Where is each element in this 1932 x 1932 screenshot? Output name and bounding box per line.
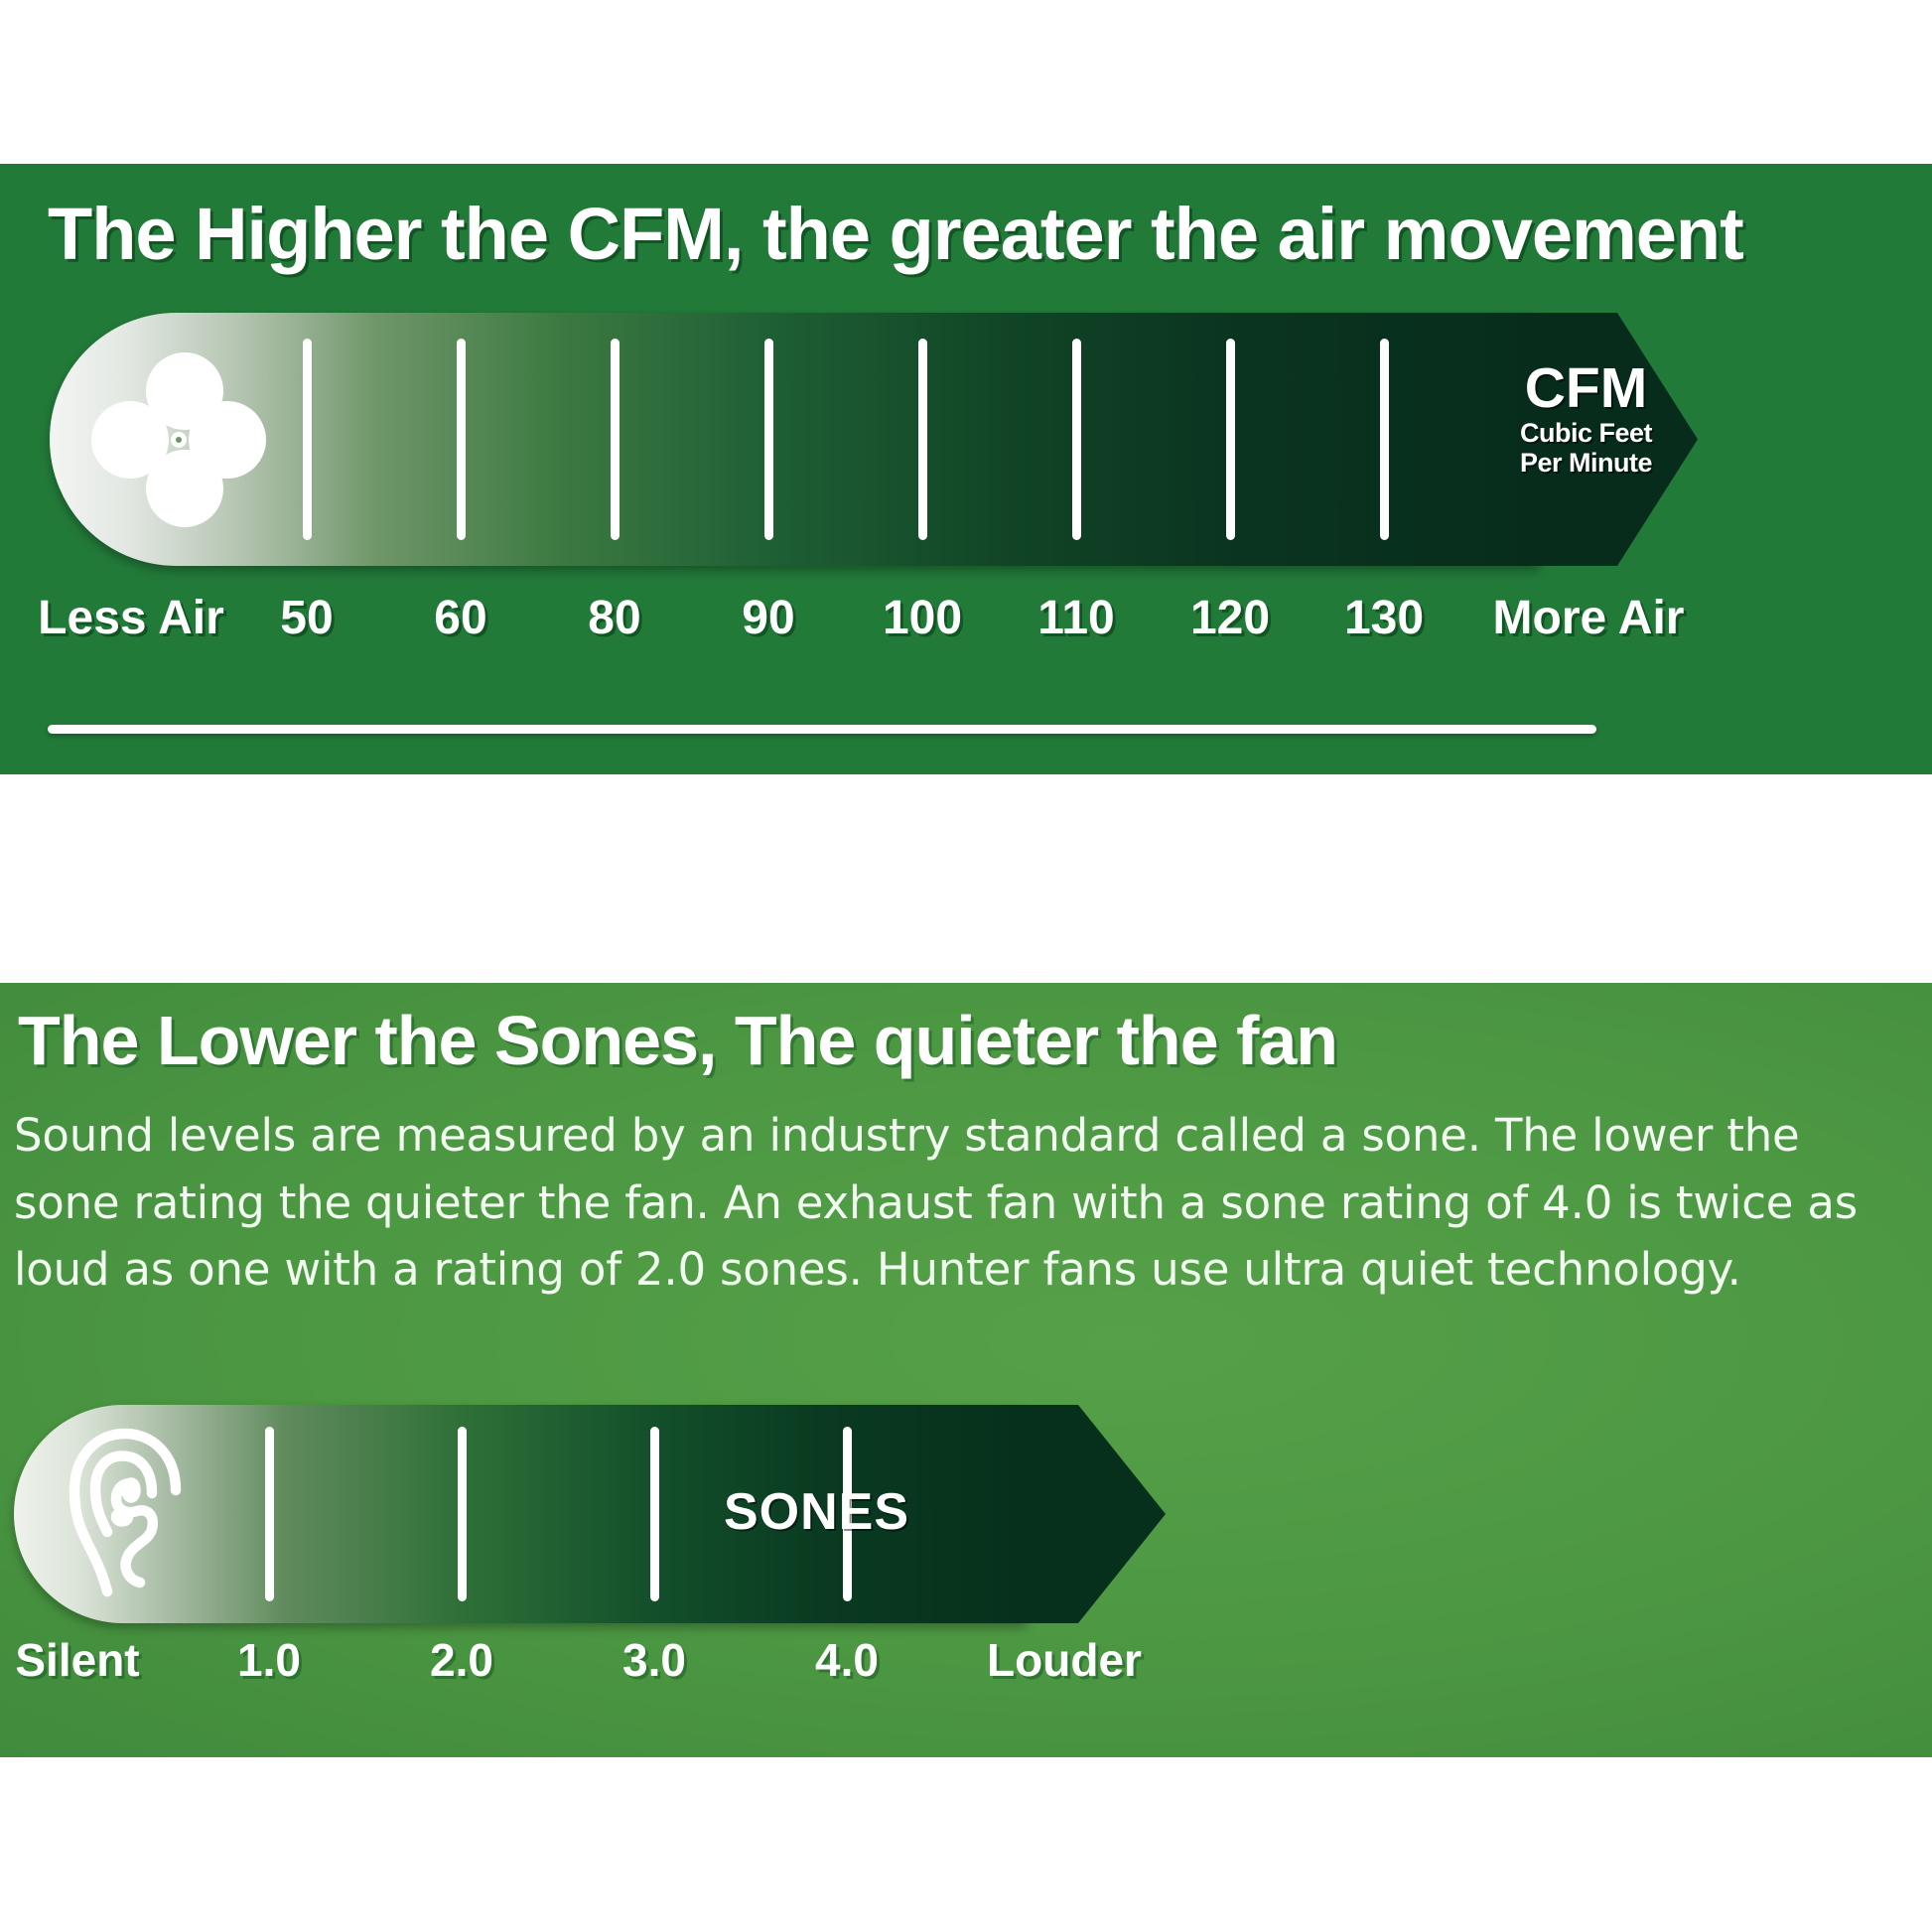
sones-scale-3.0: 3.0 <box>622 1633 686 1687</box>
sones-tick-1.0 <box>265 1427 274 1601</box>
cfm-scale-60: 60 <box>434 591 486 645</box>
ear-icon <box>60 1425 208 1603</box>
cfm-expansion-line1: Cubic Feet <box>1494 420 1678 447</box>
cfm-expansion-line2: Per Minute <box>1494 450 1678 477</box>
cfm-panel-title: The Higher the CFM, the greater the air … <box>48 192 1743 276</box>
cfm-tick-120 <box>1226 339 1235 540</box>
cfm-tick-60 <box>457 339 466 540</box>
cfm-scale-more-air: More Air <box>1493 591 1685 645</box>
cfm-scale-less-air: Less Air <box>38 591 224 645</box>
cfm-scale-80: 80 <box>588 591 640 645</box>
cfm-gauge-bar: CFM Cubic Feet Per Minute <box>50 313 1658 566</box>
cfm-tick-80 <box>611 339 620 540</box>
sones-scale-1.0: 1.0 <box>237 1633 301 1687</box>
sones-scale-louder: Louder <box>987 1633 1142 1687</box>
sones-scale-4.0: 4.0 <box>815 1633 879 1687</box>
cfm-scale-labels: Less Air50608090100110120130More Air <box>0 591 1932 660</box>
cfm-panel-divider-rule <box>48 725 1596 734</box>
sones-arrow-label: SONES <box>724 1482 909 1542</box>
cfm-scale-120: 120 <box>1190 591 1270 645</box>
cfm-scale-100: 100 <box>883 591 962 645</box>
cfm-arrow-label: CFM Cubic Feet Per Minute <box>1494 360 1678 477</box>
sones-panel-title: The Lower the Sones, The quieter the fan <box>18 1001 1337 1080</box>
fan-center-dot <box>176 437 182 443</box>
sones-tick-3.0 <box>650 1427 659 1601</box>
cfm-tick-110 <box>1072 339 1081 540</box>
sones-gauge-arrowhead <box>1007 1405 1166 1623</box>
cfm-scale-90: 90 <box>742 591 794 645</box>
sones-scale-labels: Silent1.02.03.04.0Louder <box>0 1633 1932 1703</box>
sones-panel: The Lower the Sones, The quieter the fan… <box>0 983 1932 1757</box>
cfm-gauge-body <box>50 313 1539 566</box>
fan-blade-left <box>91 401 169 479</box>
sones-body-paragraph: Sound levels are measured by an industry… <box>14 1102 1888 1304</box>
sones-scale-silent: Silent <box>15 1633 139 1687</box>
fan-blade-right <box>189 401 266 479</box>
sones-gauge-bar: SONES <box>14 1405 1076 1623</box>
cfm-panel: The Higher the CFM, the greater the air … <box>0 164 1932 774</box>
sones-scale-2.0: 2.0 <box>430 1633 493 1687</box>
cfm-scale-130: 130 <box>1344 591 1424 645</box>
sones-tick-2.0 <box>458 1427 467 1601</box>
cfm-tick-130 <box>1380 339 1389 540</box>
cfm-scale-50: 50 <box>280 591 333 645</box>
cfm-abbr: CFM <box>1494 360 1678 417</box>
cfm-scale-110: 110 <box>1037 591 1114 645</box>
cfm-tick-50 <box>303 339 312 540</box>
cfm-tick-100 <box>918 339 927 540</box>
fan-blades-icon <box>91 352 266 527</box>
cfm-tick-90 <box>764 339 773 540</box>
